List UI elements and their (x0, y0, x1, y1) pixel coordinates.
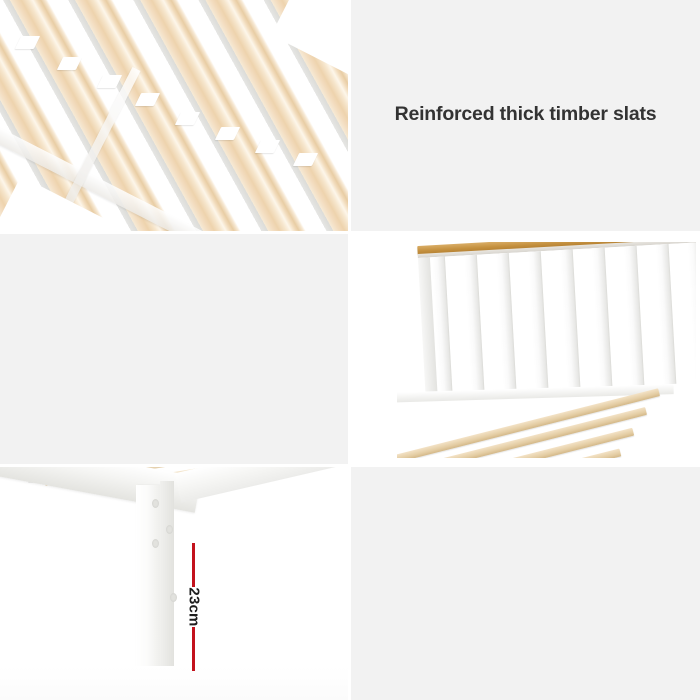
panel-strong-legs-caption: Strong legs (351, 467, 700, 700)
headboard-slat (528, 251, 549, 392)
timber-slats-image (0, 0, 348, 231)
dimension-line-upper (192, 543, 195, 587)
panel-timber-slats-caption: Reinforced thick timber slats (351, 0, 700, 231)
panel-timber-slats-photo (0, 0, 348, 231)
headboard-slat (496, 253, 517, 394)
leg-screw (170, 593, 177, 602)
leg-screw (152, 539, 159, 548)
headboard-slat (560, 249, 581, 390)
photo-mask-right (696, 234, 700, 464)
panel-headboard-caption: Elegant headboard (0, 234, 348, 464)
headboard-slat (656, 244, 677, 385)
photo-mask-top (351, 234, 700, 242)
leg-screw (152, 499, 159, 508)
photo-mask-left (351, 234, 397, 464)
seam-vertical (348, 0, 351, 700)
floor-fade (0, 666, 348, 700)
headboard-slat-field (418, 241, 700, 398)
headboard-image (351, 234, 700, 464)
bed-leg-front-face (136, 485, 162, 673)
dimension-line-lower (192, 627, 195, 671)
panel-strong-legs-photo: 23cm (0, 467, 348, 700)
dimension-label-23cm: 23cm (186, 587, 203, 626)
leg-height-dimension: 23cm (192, 543, 196, 671)
bed-side-rail-right (175, 467, 348, 503)
caption-reinforced-thick-timber-slats: Reinforced thick timber slats (351, 103, 700, 126)
bed-leg-side-face (160, 481, 174, 667)
seam-horizontal-2 (0, 464, 700, 467)
headboard-slat (464, 255, 485, 396)
panel-headboard-photo (351, 234, 700, 464)
leg-screw (166, 525, 173, 534)
headboard-slat (624, 246, 645, 387)
headboard-perspective-stage (351, 234, 700, 464)
bed-leg-image: 23cm (0, 467, 348, 700)
seam-horizontal-1 (0, 231, 700, 234)
headboard-slat (592, 248, 613, 389)
feature-grid: Reinforced thick timber slats Elegant he… (0, 0, 700, 700)
